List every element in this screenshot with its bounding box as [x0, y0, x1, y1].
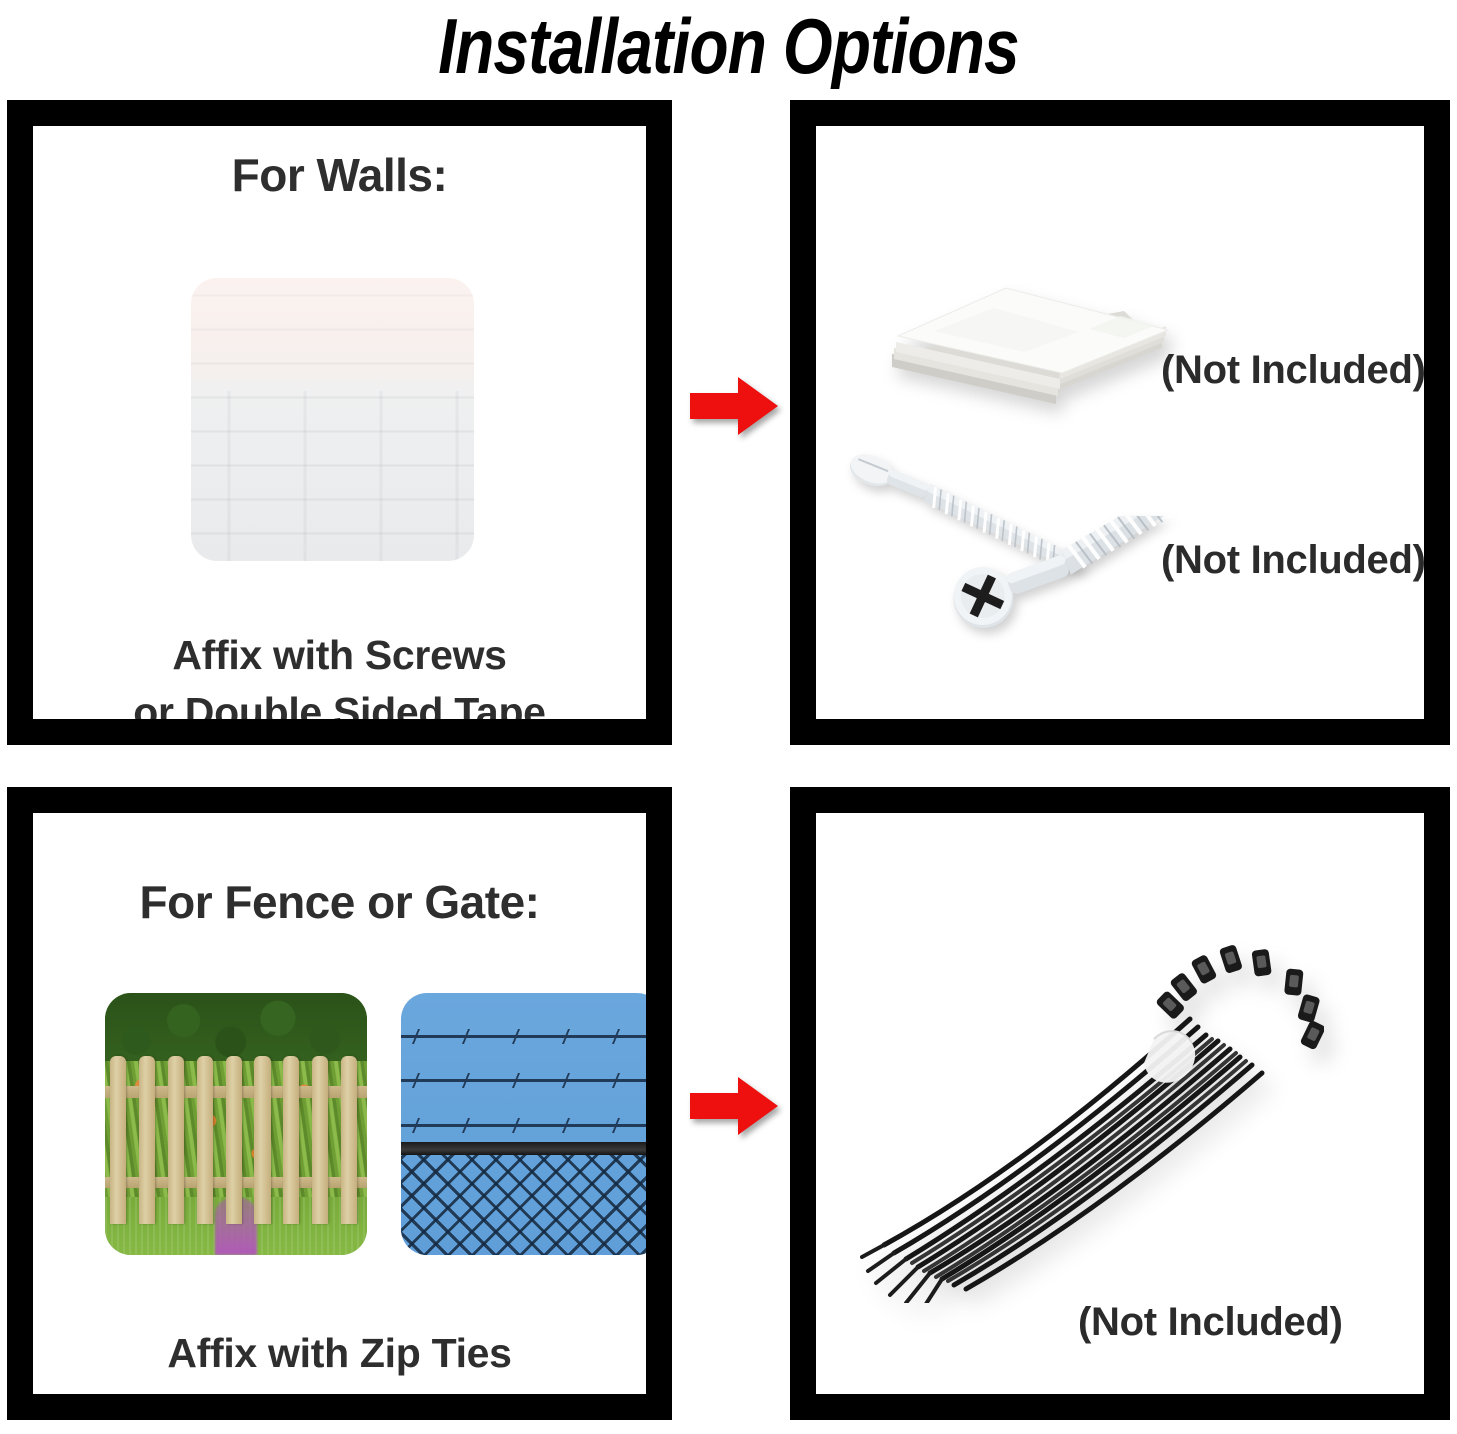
picket-slats-group — [105, 1056, 367, 1224]
fence-caption: Affix with Zip Ties — [33, 1330, 646, 1377]
picket-slat — [168, 1056, 184, 1224]
screws-not-included-label: (Not Included) — [1161, 538, 1424, 583]
picket-slat — [254, 1056, 270, 1224]
zip-ties-bundle-image — [854, 923, 1324, 1303]
panel-fence-hardware: (Not Included) — [790, 787, 1450, 1420]
wood-screw-image-2 — [944, 516, 1244, 651]
picket-slat — [341, 1056, 357, 1224]
white-brick-wall-photo — [191, 278, 474, 561]
tape-not-included-label: (Not Included) — [1161, 348, 1424, 393]
panel-for-walls: For Walls: Affix with Screws or Double S… — [7, 100, 672, 745]
barbed-wire-strand — [401, 1035, 646, 1038]
barbed-wire-strand — [401, 1124, 646, 1127]
picket-slat — [312, 1056, 328, 1224]
chain-link-barbed-wire-photo — [401, 993, 646, 1255]
panel-for-fence-or-gate: For Fence or Gate: — [7, 787, 672, 1420]
wall-highlight-overlay — [191, 278, 474, 561]
walls-heading: For Walls: — [33, 148, 646, 202]
picket-slat — [283, 1056, 299, 1224]
picket-slat — [139, 1056, 155, 1224]
red-right-arrow-icon — [690, 375, 778, 437]
fence-top-rail — [401, 1142, 646, 1155]
picket-slat — [226, 1056, 242, 1224]
picket-fence-photo — [105, 993, 367, 1255]
panel-wall-hardware: (Not Included) — [790, 100, 1450, 745]
red-right-arrow-icon — [690, 1075, 778, 1137]
picket-slat — [110, 1056, 126, 1224]
barbed-wire-strand — [401, 1079, 646, 1082]
chain-link-mesh — [401, 1155, 646, 1255]
double-sided-tape-stack-image — [874, 236, 1174, 436]
walls-caption-line-2: or Double Sided Tape — [33, 689, 646, 719]
page-title: Installation Options — [131, 0, 1326, 92]
picket-slat — [197, 1056, 213, 1224]
zip-ties-not-included-label: (Not Included) — [1078, 1300, 1343, 1345]
fence-heading: For Fence or Gate: — [33, 875, 646, 929]
walls-caption-line-1: Affix with Screws — [33, 632, 646, 679]
